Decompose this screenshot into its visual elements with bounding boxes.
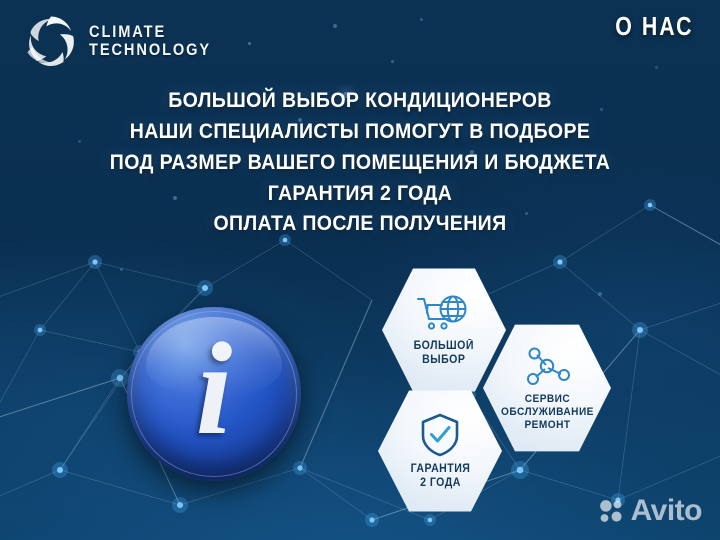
headline-block: БОЛЬШОЙ ВЫБОР КОНДИЦИОНЕРОВ НАШИ СПЕЦИАЛ…	[0, 86, 720, 240]
badge-warranty-caption-line1: ГАРАНТИЯ	[410, 463, 470, 477]
badge-warranty-caption-line2: 2 ГОДА	[410, 477, 470, 491]
brand-logo[interactable]: CLIMATE TECHNOLOGY	[22, 10, 231, 72]
spiral-fan-logo-icon	[22, 12, 80, 70]
headline-line-5: ОПЛАТА ПОСЛЕ ПОЛУЧЕНИЯ	[25, 209, 695, 240]
page-title: О НАС	[616, 11, 694, 42]
brand-name-line1: CLIMATE	[89, 23, 211, 41]
badge-big-choice-caption: БОЛЬШОЙ ВЫБОР	[414, 340, 474, 368]
headline-line-3: ПОД РАЗМЕР ВАШЕГО ПОМЕЩЕНИЯ И БЮДЖЕТА	[25, 148, 695, 179]
network-lines	[0, 205, 720, 520]
badge-big-choice-caption-line1: БОЛЬШОЙ	[414, 340, 474, 354]
badge-service-repair-caption-line1: СЕРВИС	[501, 393, 594, 406]
badge-warranty-caption: ГАРАНТИЯ 2 ГОДА	[410, 463, 470, 491]
badge-big-choice-caption-line2: ВЫБОР	[414, 354, 474, 368]
headline-line-1: БОЛЬШОЙ ВЫБОР КОНДИЦИОНЕРОВ	[25, 86, 695, 117]
promo-banner: CLIMATE TECHNOLOGY О НАС БОЛЬШОЙ ВЫБОР К…	[0, 0, 720, 540]
shield-check-icon	[419, 412, 461, 458]
avito-wordmark: Avito	[631, 496, 702, 526]
brand-name: CLIMATE TECHNOLOGY	[89, 23, 231, 60]
shopping-cart-globe-icon	[416, 293, 472, 335]
headline-line-4: ГАРАНТИЯ 2 ГОДА	[25, 179, 695, 210]
headline-line-2: НАШИ СПЕЦИАЛИСТЫ ПОМОГУТ В ПОДБОРЕ	[25, 117, 695, 148]
badge-service-repair-caption: СЕРВИС ОБСЛУЖИВАНИЕ РЕМОНТ	[501, 393, 594, 433]
network-nodes-icon	[521, 344, 573, 388]
avito-watermark: Avito	[598, 496, 702, 526]
avito-dots-icon	[598, 498, 624, 524]
information-orb-icon: i	[127, 307, 301, 481]
badge-service-repair-caption-line3: РЕМОНТ	[501, 419, 594, 432]
network-background	[0, 0, 720, 540]
badge-service-repair-caption-line2: ОБСЛУЖИВАНИЕ	[501, 406, 594, 419]
brand-name-line2: TECHNOLOGY	[89, 41, 211, 59]
information-orb-glyph: i	[127, 307, 301, 481]
